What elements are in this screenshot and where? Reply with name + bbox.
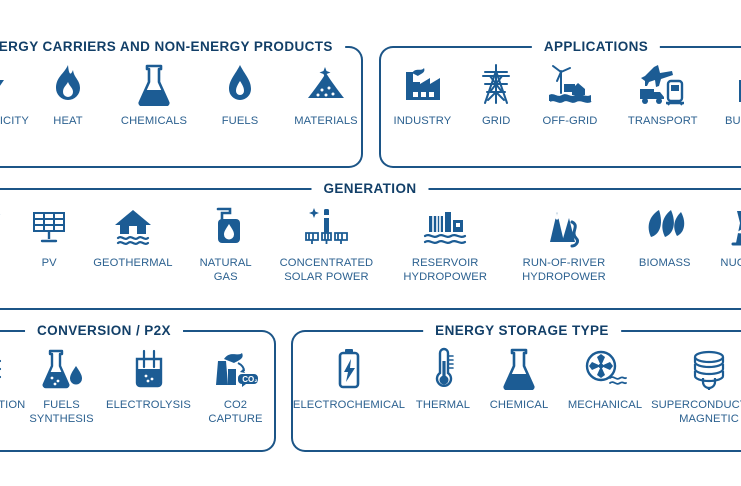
item-fuels-synthesis[interactable]: FUELS SYNTHESIS bbox=[24, 346, 100, 426]
item-wind[interactable]: WIND bbox=[0, 204, 13, 271]
item-label: BIOMASS bbox=[639, 257, 691, 271]
off-grid-island-icon bbox=[541, 62, 599, 108]
panel-energy-carriers: ENERGY CARRIERS AND NON-ENERGY PRODUCTS … bbox=[0, 46, 363, 168]
gas-flame-drop-icon bbox=[211, 62, 269, 108]
item-label: FUELS SYNTHESIS bbox=[29, 399, 93, 426]
item-label: FUELS bbox=[222, 115, 259, 129]
erlenmeyer-flask-icon bbox=[490, 346, 548, 392]
item-label: PV bbox=[42, 257, 57, 271]
erlenmeyer-flask-icon bbox=[125, 62, 183, 108]
item-concentrated-solar-power[interactable]: CONCENTRATED SOLAR POWER bbox=[270, 204, 382, 284]
item-co2-capture[interactable]: CO₂ CO2 CAPTURE bbox=[198, 346, 274, 426]
item-label: CO2 CAPTURE bbox=[208, 399, 262, 426]
panel-applications: APPLICATIONS INDUSTRY bbox=[379, 46, 741, 168]
item-label: INDUSTRY bbox=[394, 115, 452, 129]
item-label: SUPERCONDUCTING MAGNETIC bbox=[651, 399, 741, 426]
transport-plane-truck-train-icon bbox=[634, 62, 692, 108]
solar-panel-icon bbox=[20, 204, 78, 250]
lightning-bolt-icon bbox=[0, 62, 21, 108]
item-label: TRANSPORT bbox=[628, 115, 698, 129]
item-label: NUCLEAR bbox=[720, 257, 741, 271]
panel-energy-storage: ENERGY STORAGE TYPE ELECTROCHEMICAL bbox=[291, 330, 741, 452]
item-label: ELECTRICITY bbox=[0, 115, 29, 129]
item-chemical[interactable]: CHEMICAL bbox=[481, 346, 557, 413]
item-materials[interactable]: MATERIALS bbox=[278, 62, 374, 129]
item-label: NATURAL GAS bbox=[200, 257, 252, 284]
item-label: RESERVOIR HYDROPOWER bbox=[403, 257, 487, 284]
panel-conversion-p2x: CONVERSION / P2X H METHANATION bbox=[0, 330, 276, 452]
item-natural-gas[interactable]: NATURAL GAS bbox=[188, 204, 264, 284]
factory-icon bbox=[393, 62, 451, 108]
item-label: CHEMICALS bbox=[121, 115, 187, 129]
item-thermal[interactable]: THERMAL bbox=[405, 346, 481, 413]
wind-turbine-icon bbox=[0, 204, 13, 250]
co2-capture-icon: CO₂ bbox=[207, 346, 265, 392]
flywheel-water-icon bbox=[576, 346, 634, 392]
item-label: THERMAL bbox=[416, 399, 470, 413]
item-label: CHEMICAL bbox=[490, 399, 549, 413]
item-electrochemical[interactable]: ELECTROCHEMICAL bbox=[293, 346, 405, 413]
material-pile-icon bbox=[297, 62, 355, 108]
item-label: GEOTHERMAL bbox=[93, 257, 172, 271]
superconducting-coil-icon bbox=[680, 346, 738, 392]
svg-text:CO₂: CO₂ bbox=[242, 375, 258, 384]
flame-icon bbox=[39, 62, 97, 108]
electrolysis-beaker-icon bbox=[120, 346, 178, 392]
item-label: HEAT bbox=[53, 115, 82, 129]
infographic-canvas: ENERGY CARRIERS AND NON-ENERGY PRODUCTS … bbox=[0, 0, 741, 486]
item-nuclear[interactable]: NUCLEAR bbox=[710, 204, 741, 271]
item-pv[interactable]: PV bbox=[20, 204, 78, 271]
geothermal-house-icon bbox=[104, 204, 162, 250]
item-label: RUN-OF-RIVER HYDROPOWER bbox=[522, 257, 606, 284]
battery-bolt-icon bbox=[320, 346, 378, 392]
item-heat[interactable]: HEAT bbox=[30, 62, 106, 129]
item-reservoir-hydropower[interactable]: RESERVOIR HYDROPOWER bbox=[389, 204, 501, 284]
buildings-icon bbox=[727, 62, 741, 108]
leaf-flame-icon bbox=[636, 204, 694, 250]
transmission-tower-icon bbox=[467, 62, 525, 108]
item-label: MATERIALS bbox=[294, 115, 357, 129]
item-electrolysis[interactable]: ELECTROLYSIS bbox=[101, 346, 197, 413]
item-run-of-river-hydropower[interactable]: RUN-OF-RIVER HYDROPOWER bbox=[508, 204, 620, 284]
item-geothermal[interactable]: GEOTHERMAL bbox=[85, 204, 181, 271]
item-industry[interactable]: INDUSTRY bbox=[384, 62, 460, 129]
item-fuels[interactable]: FUELS bbox=[202, 62, 278, 129]
item-off-grid[interactable]: OFF-GRID bbox=[532, 62, 608, 129]
item-label: MECHANICAL bbox=[568, 399, 642, 413]
item-label: CONCENTRATED SOLAR POWER bbox=[280, 257, 374, 284]
item-mechanical[interactable]: MECHANICAL bbox=[557, 346, 653, 413]
nuclear-cooling-tower-icon bbox=[719, 204, 741, 250]
item-electricity[interactable]: ELECTRICITY bbox=[0, 62, 30, 129]
item-label: BUILDINGS bbox=[725, 115, 741, 129]
methanation-reactor-icon: H bbox=[0, 346, 14, 392]
flask-droplet-icon bbox=[33, 346, 91, 392]
item-label: ELECTROLYSIS bbox=[106, 399, 191, 413]
item-chemicals[interactable]: CHEMICALS bbox=[106, 62, 202, 129]
item-methanation[interactable]: H METHANATION bbox=[0, 346, 23, 413]
item-label: GRID bbox=[482, 115, 510, 129]
thermometer-icon bbox=[414, 346, 472, 392]
item-biomass[interactable]: BIOMASS bbox=[627, 204, 703, 271]
item-label: ELECTROCHEMICAL bbox=[293, 399, 405, 413]
river-mountains-icon bbox=[535, 204, 593, 250]
concentrated-solar-tower-icon bbox=[297, 204, 355, 250]
dam-reservoir-icon bbox=[416, 204, 474, 250]
item-label: OFF-GRID bbox=[543, 115, 598, 129]
item-label: METHANATION bbox=[0, 399, 25, 413]
item-grid[interactable]: GRID bbox=[467, 62, 525, 129]
panel-generation: GENERATION WIND bbox=[0, 188, 741, 310]
item-buildings[interactable]: BUILDINGS bbox=[718, 62, 741, 129]
gas-tank-flame-icon bbox=[197, 204, 255, 250]
item-superconducting-magnetic[interactable]: SUPERCONDUCTING MAGNETIC bbox=[653, 346, 741, 426]
item-transport[interactable]: TRANSPORT bbox=[615, 62, 711, 129]
